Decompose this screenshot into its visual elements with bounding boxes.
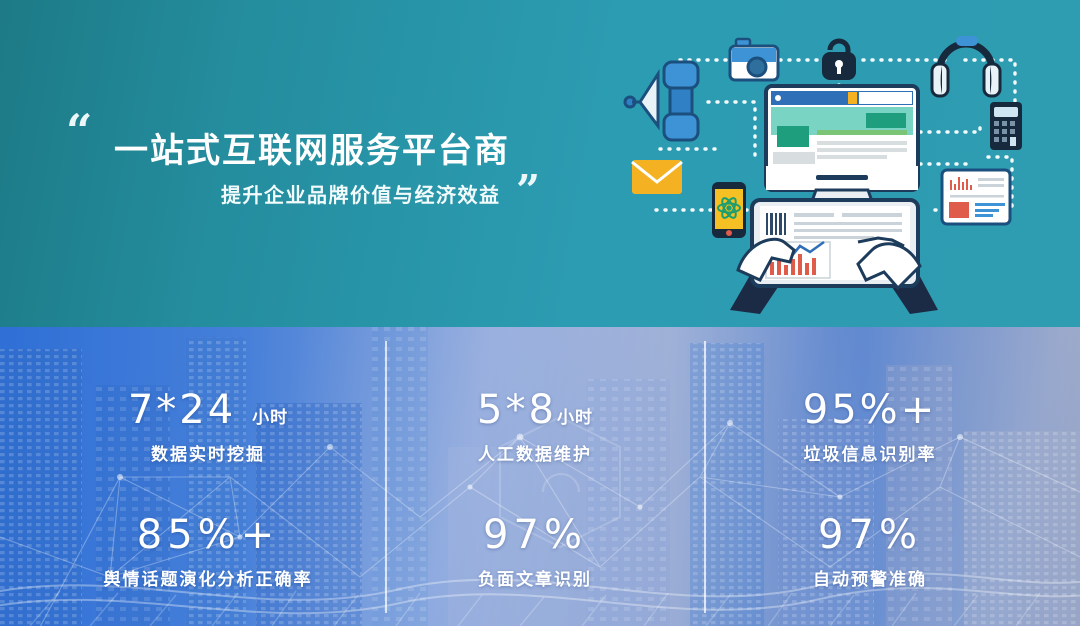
- stat-number-3: 95%+: [803, 387, 937, 433]
- stat-value-6: 97%: [755, 512, 985, 558]
- smartphone-icon: [712, 182, 746, 238]
- stat-number-5: 97%: [483, 512, 587, 558]
- page-subtitle: 提升企业品牌价值与经济效益: [221, 185, 501, 207]
- stat-value-5: 97%: [425, 512, 645, 558]
- satellite-icon: [625, 62, 698, 140]
- stat-card-1: 7*24小时 数据实时挖掘: [88, 387, 328, 465]
- envelope-icon: [632, 160, 682, 194]
- stat-label-2: 人工数据维护: [425, 440, 645, 465]
- newspaper-icon: [942, 170, 1010, 224]
- stat-label-1: 数据实时挖掘: [88, 440, 328, 465]
- stat-label-5: 负面文章识别: [425, 565, 645, 590]
- stat-unit-2: 小时: [557, 408, 593, 428]
- internet-services-illustration: [620, 14, 1080, 324]
- tablet-with-hands-icon: [730, 200, 938, 314]
- stat-value-4: 85%+: [88, 512, 328, 558]
- headphones-icon: [932, 36, 1000, 96]
- quote-open-icon: “: [66, 108, 90, 154]
- stat-value-1: 7*24小时: [88, 387, 328, 433]
- camera-icon: [730, 39, 778, 80]
- stat-card-5: 97% 负面文章识别: [425, 512, 645, 590]
- stat-unit-1: 小时: [252, 408, 288, 428]
- promo-banner-page: “ 一站式互联网服务平台商 提升企业品牌价值与经济效益 ”: [0, 0, 1080, 626]
- stat-number-6: 97%: [818, 512, 922, 558]
- stat-label-6: 自动预警准确: [755, 565, 985, 590]
- hero-copy-block: “ 一站式互联网服务平台商 提升企业品牌价值与经济效益 ”: [66, 96, 626, 236]
- stat-value-3: 95%+: [755, 387, 985, 433]
- stats-grid: 7*24小时 数据实时挖掘 5*8小时 人工数据维护 95%+ 垃圾信息识别率: [0, 327, 1080, 626]
- stat-label-3: 垃圾信息识别率: [755, 440, 985, 465]
- stat-label-4: 舆情话题演化分析正确率: [88, 565, 328, 590]
- hero-section: “ 一站式互联网服务平台商 提升企业品牌价值与经济效益 ”: [0, 0, 1080, 327]
- stat-card-2: 5*8小时 人工数据维护: [425, 387, 645, 465]
- stats-section: 7*24小时 数据实时挖掘 5*8小时 人工数据维护 95%+ 垃圾信息识别率: [0, 327, 1080, 626]
- page-title: 一站式互联网服务平台商: [114, 133, 510, 170]
- calculator-icon: [990, 102, 1022, 150]
- stat-number-2: 5*8: [477, 387, 557, 433]
- stat-card-6: 97% 自动预警准确: [755, 512, 985, 590]
- stat-number-4: 85%+: [137, 512, 279, 558]
- stat-number-1: 7*24: [128, 387, 236, 433]
- lock-icon: [822, 41, 856, 80]
- stat-value-2: 5*8小时: [425, 387, 645, 433]
- stat-card-4: 85%+ 舆情话题演化分析正确率: [88, 512, 328, 590]
- stat-card-3: 95%+ 垃圾信息识别率: [755, 387, 985, 465]
- quote-close-icon: ”: [516, 170, 538, 212]
